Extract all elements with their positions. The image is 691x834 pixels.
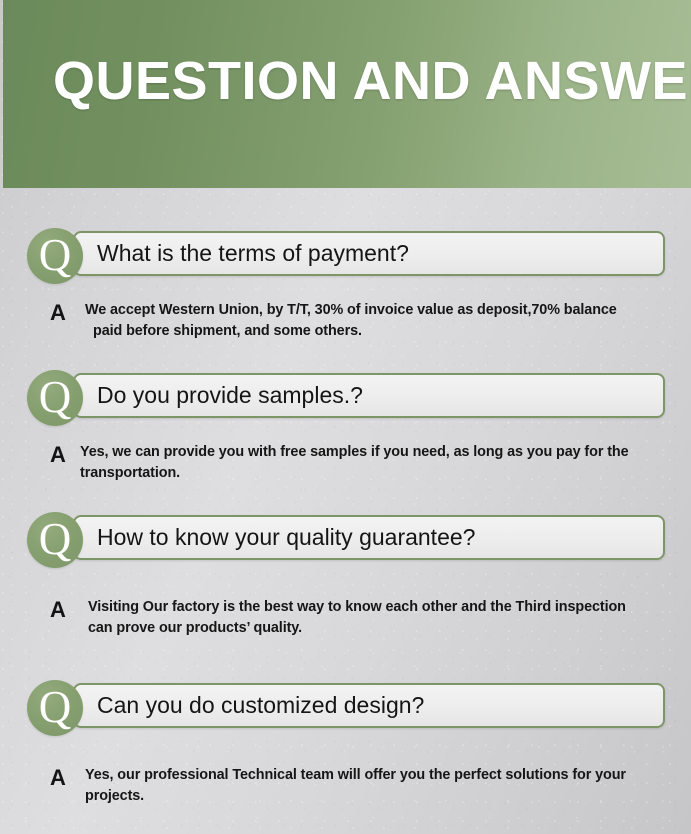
header-banner: QUESTION AND ANSWER	[3, 0, 691, 188]
answer-line: Visiting Our factory is the best way to …	[88, 597, 668, 618]
answer-text: We accept Western Union, by T/T, 30% of …	[85, 300, 665, 342]
question-text: Can you do customized design?	[97, 685, 653, 726]
answer-line: We accept Western Union, by T/T, 30% of …	[85, 300, 665, 321]
answer-marker: A	[50, 302, 66, 324]
qa-item: Q Can you do customized design? A Yes, o…	[0, 680, 691, 738]
page-title: QUESTION AND ANSWER	[53, 54, 691, 108]
question-box[interactable]: What is the terms of payment?	[73, 231, 665, 276]
question-box[interactable]: How to know your quality guarantee?	[73, 515, 665, 560]
question-box[interactable]: Can you do customized design?	[73, 683, 665, 728]
qa-item: Q Do you provide samples.? A Yes, we can…	[0, 370, 691, 428]
answer-line: Yes, our professional Technical team wil…	[85, 765, 670, 786]
answer-text: Yes, we can provide you with free sample…	[80, 442, 680, 484]
question-row: Q Can you do customized design?	[0, 680, 691, 738]
question-marker-badge: Q	[27, 370, 83, 426]
answer-line: Yes, we can provide you with free sample…	[80, 442, 680, 463]
question-marker-badge: Q	[27, 512, 83, 568]
question-text: What is the terms of payment?	[97, 233, 653, 274]
answer-line: transportation.	[80, 463, 680, 484]
qa-item: Q What is the terms of payment? A We acc…	[0, 228, 691, 286]
question-row: Q Do you provide samples.?	[0, 370, 691, 428]
question-box[interactable]: Do you provide samples.?	[73, 373, 665, 418]
question-marker-badge: Q	[27, 680, 83, 736]
answer-text: Visiting Our factory is the best way to …	[88, 597, 668, 639]
answer-line: projects.	[85, 786, 670, 807]
qa-page: QUESTION AND ANSWER Q What is the terms …	[0, 0, 691, 834]
answer-line: paid before shipment, and some others.	[85, 321, 665, 342]
answer-line: can prove our products’ quality.	[88, 618, 668, 639]
question-row: Q What is the terms of payment?	[0, 228, 691, 286]
answer-marker: A	[50, 767, 66, 789]
question-text: How to know your quality guarantee?	[97, 517, 653, 558]
qa-item: Q How to know your quality guarantee? A …	[0, 512, 691, 570]
question-row: Q How to know your quality guarantee?	[0, 512, 691, 570]
question-text: Do you provide samples.?	[97, 375, 653, 416]
answer-marker: A	[50, 444, 66, 466]
question-marker-badge: Q	[27, 228, 83, 284]
answer-marker: A	[50, 599, 66, 621]
answer-text: Yes, our professional Technical team wil…	[85, 765, 670, 807]
